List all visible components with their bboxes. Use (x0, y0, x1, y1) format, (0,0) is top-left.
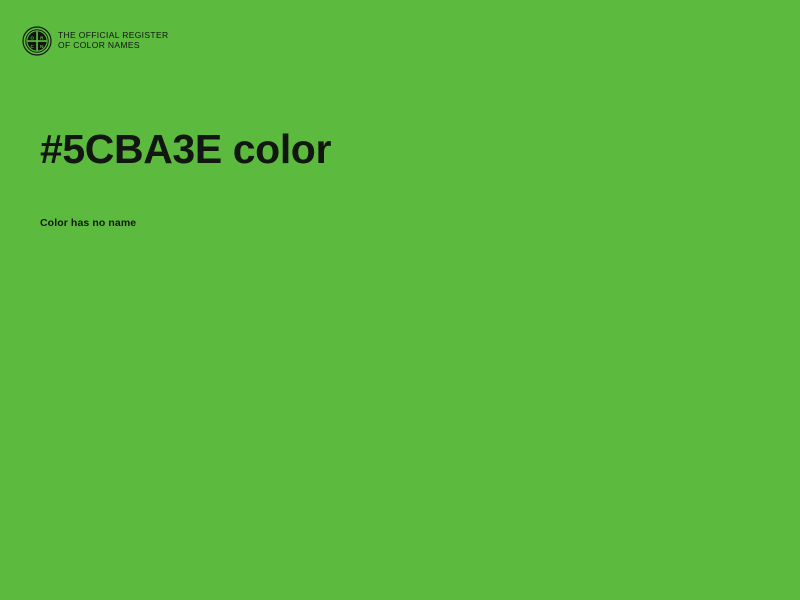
color-name-status: Color has no name (40, 171, 740, 229)
color-info-block: #5CBA3E color Color has no name (40, 128, 740, 229)
brand-line-2: OF COLOR NAMES (58, 41, 168, 51)
brand-wordmark: THE OFFICIAL REGISTER OF COLOR NAMES (58, 31, 168, 50)
svg-text:O: O (30, 35, 34, 40)
page-title: #5CBA3E color (40, 128, 740, 171)
color-page: O R C N THE OFFICIAL REGISTER OF COLOR N… (0, 0, 800, 600)
brand-lockup[interactable]: O R C N THE OFFICIAL REGISTER OF COLOR N… (22, 26, 168, 56)
register-seal-icon: O R C N (22, 26, 52, 56)
